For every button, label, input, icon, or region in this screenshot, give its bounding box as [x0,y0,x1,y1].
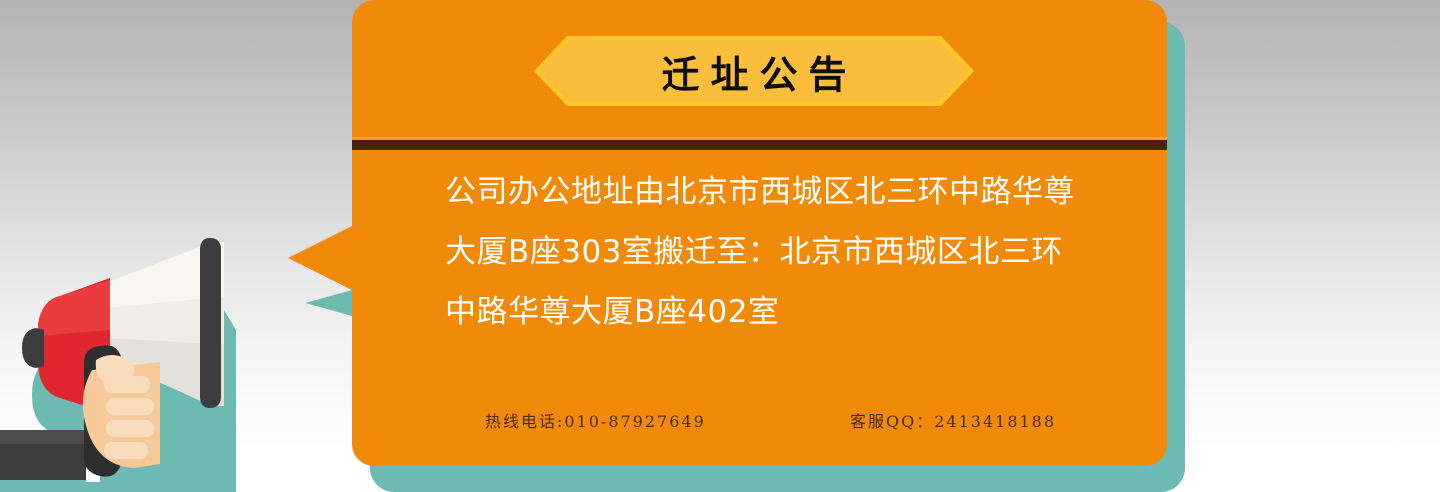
service-qq: 客服QQ：2413418188 [850,408,1056,432]
megaphone-hand-illustration [0,180,330,492]
megaphone-rim [200,238,221,408]
page-title: 迁址公告 [534,36,974,106]
megaphone-knob [22,328,44,368]
arm-sleeve [0,430,88,480]
announcement-body: 公司办公地址由北京市西城区北三环中路华尊大厦B座303室搬迁至：北京市西城区北三… [445,162,1093,342]
title-badge: 迁址公告 [534,36,974,106]
speech-tail [288,222,360,294]
announcement-banner: 迁址公告 公司办公地址由北京市西城区北三环中路华尊大厦B座303室搬迁至：北京市… [0,0,1440,492]
hotline-phone: 热线电话:010-87927649 [485,408,706,432]
divider [352,140,1167,150]
footer-contacts: 热线电话:010-87927649 客服QQ：2413418188 [352,408,1167,442]
